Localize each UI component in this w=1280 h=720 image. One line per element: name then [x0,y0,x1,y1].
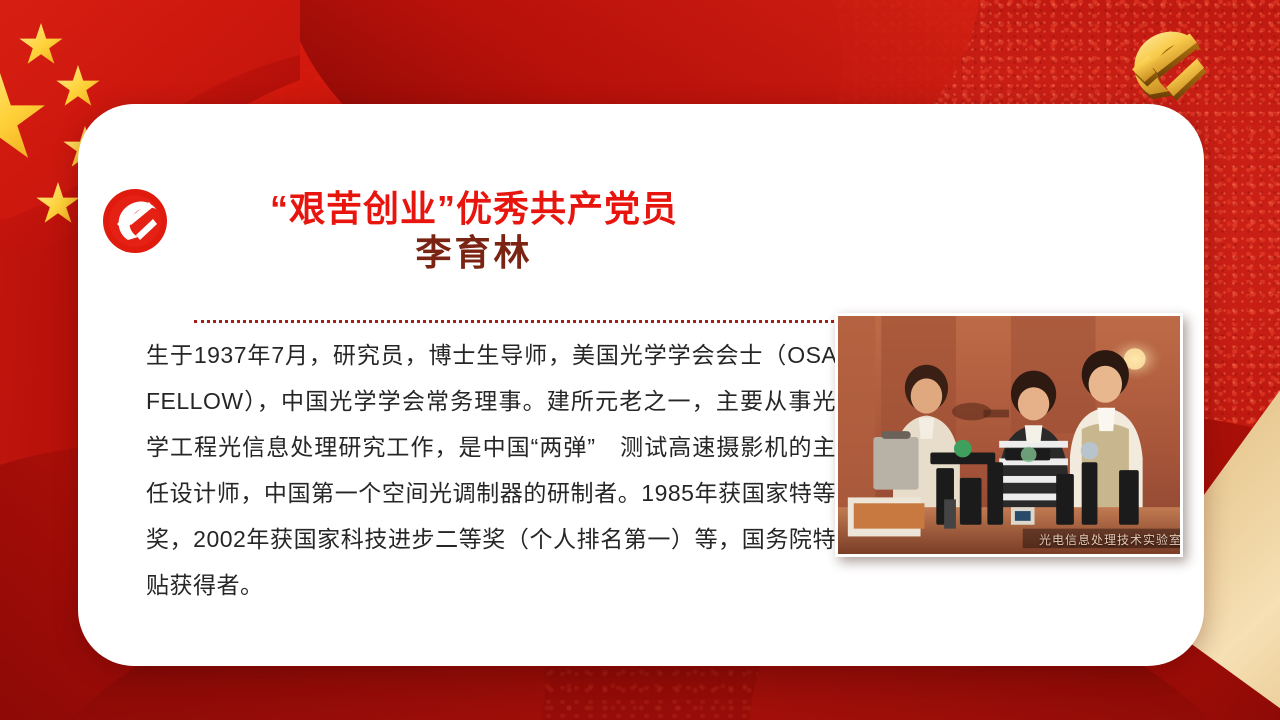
biography-text: 生于1937年7月，研究员，博士生导师，美国光学学会会士（OSA FELLOW）… [146,332,836,608]
photo-caption: 光电信息处理技术实验室 [1039,531,1180,548]
slide-root: “艰苦创业”优秀共产党员 李育林 生于1937年7月，研究员，博士生导师，美国光… [0,0,1280,720]
content-card: “艰苦创业”优秀共产党员 李育林 生于1937年7月，研究员，博士生导师，美国光… [78,104,1204,666]
card-header: “艰苦创业”优秀共产党员 李育林 [102,188,842,278]
photo-image: 光电信息处理技术实验室 [838,316,1180,554]
lab-group-photo: 光电信息处理技术实验室 [835,313,1183,557]
page-title: “艰苦创业”优秀共产党员 [194,188,754,229]
person-name: 李育林 [194,229,754,278]
photo-content [838,316,1180,554]
party-emblem-gold-icon [1114,18,1222,110]
dotted-divider [194,320,882,323]
title-block: “艰苦创业”优秀共产党员 李育林 [194,188,754,278]
party-emblem-badge-icon [102,188,168,254]
